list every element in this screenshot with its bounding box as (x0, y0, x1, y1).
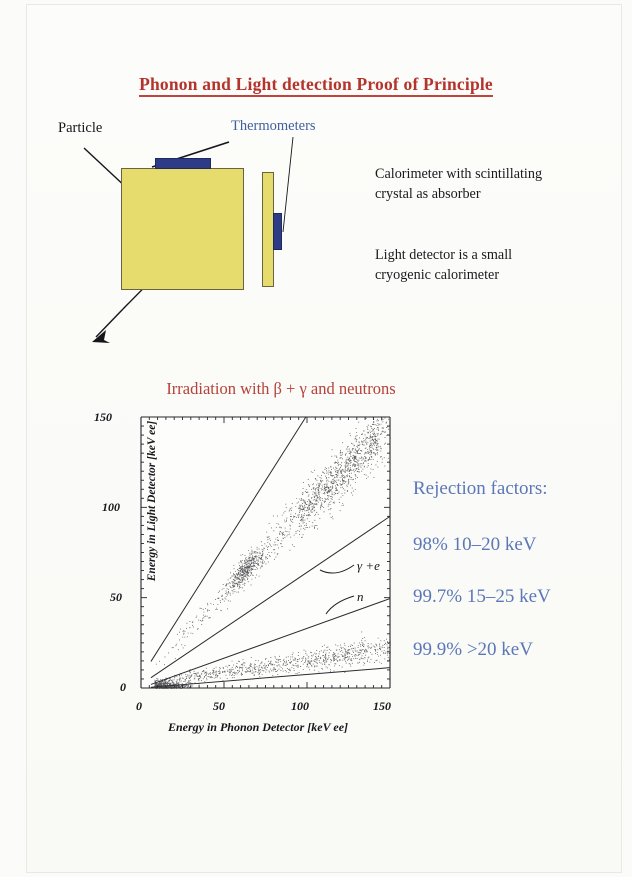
particle-label: Particle (58, 120, 102, 137)
scintillating-crystal-absorber (121, 168, 244, 290)
light-detector-description: Light detector is a small cryogenic calo… (375, 245, 565, 285)
calorimeter-description: Calorimeter with scintillating crystal a… (375, 164, 565, 204)
slide-page: Phonon and Light detection Proof of Prin… (0, 0, 632, 877)
x-tick-50: 50 (213, 699, 225, 714)
light-vs-phonon-scatter-plot: Energy in Light Detector [keV ee] Energy… (88, 400, 408, 745)
rejection-factor-item-1: 98% 10–20 keV (413, 534, 536, 556)
neutron-band-annotation: n (357, 589, 364, 605)
x-tick-100: 100 (291, 699, 309, 714)
y-tick-150: 150 (94, 410, 112, 425)
page-title-text: Phonon and Light detection Proof of Prin… (139, 74, 493, 97)
y-axis-title: Energy in Light Detector [keV ee] (146, 391, 158, 611)
page-title: Phonon and Light detection Proof of Prin… (0, 74, 632, 95)
y-tick-50: 50 (110, 590, 122, 605)
x-tick-150: 150 (373, 699, 391, 714)
rejection-factor-item-2: 99.7% 15–25 keV (413, 586, 551, 608)
thermometers-label: Thermometers (231, 118, 316, 135)
particle-exit-track (96, 309, 123, 337)
thermometer-on-light-detector (273, 213, 282, 250)
diagram-vectors (0, 110, 632, 350)
rejection-factors-heading: Rejection factors: (413, 478, 548, 500)
y-tick-0: 0 (120, 680, 126, 695)
x-tick-0: 0 (136, 699, 142, 714)
gamma-electron-band-annotation: γ +e (357, 558, 380, 574)
thermometer-on-crystal (155, 158, 211, 169)
detector-diagram (0, 110, 632, 350)
plot-caption: Irradiation with β + γ and neutrons (0, 379, 632, 399)
y-tick-100: 100 (102, 500, 120, 515)
rejection-factor-item-3: 99.9% >20 keV (413, 639, 533, 661)
x-axis-title: Energy in Phonon Detector [keV ee] (98, 720, 418, 735)
thermometer-side-leader-line (283, 137, 293, 232)
